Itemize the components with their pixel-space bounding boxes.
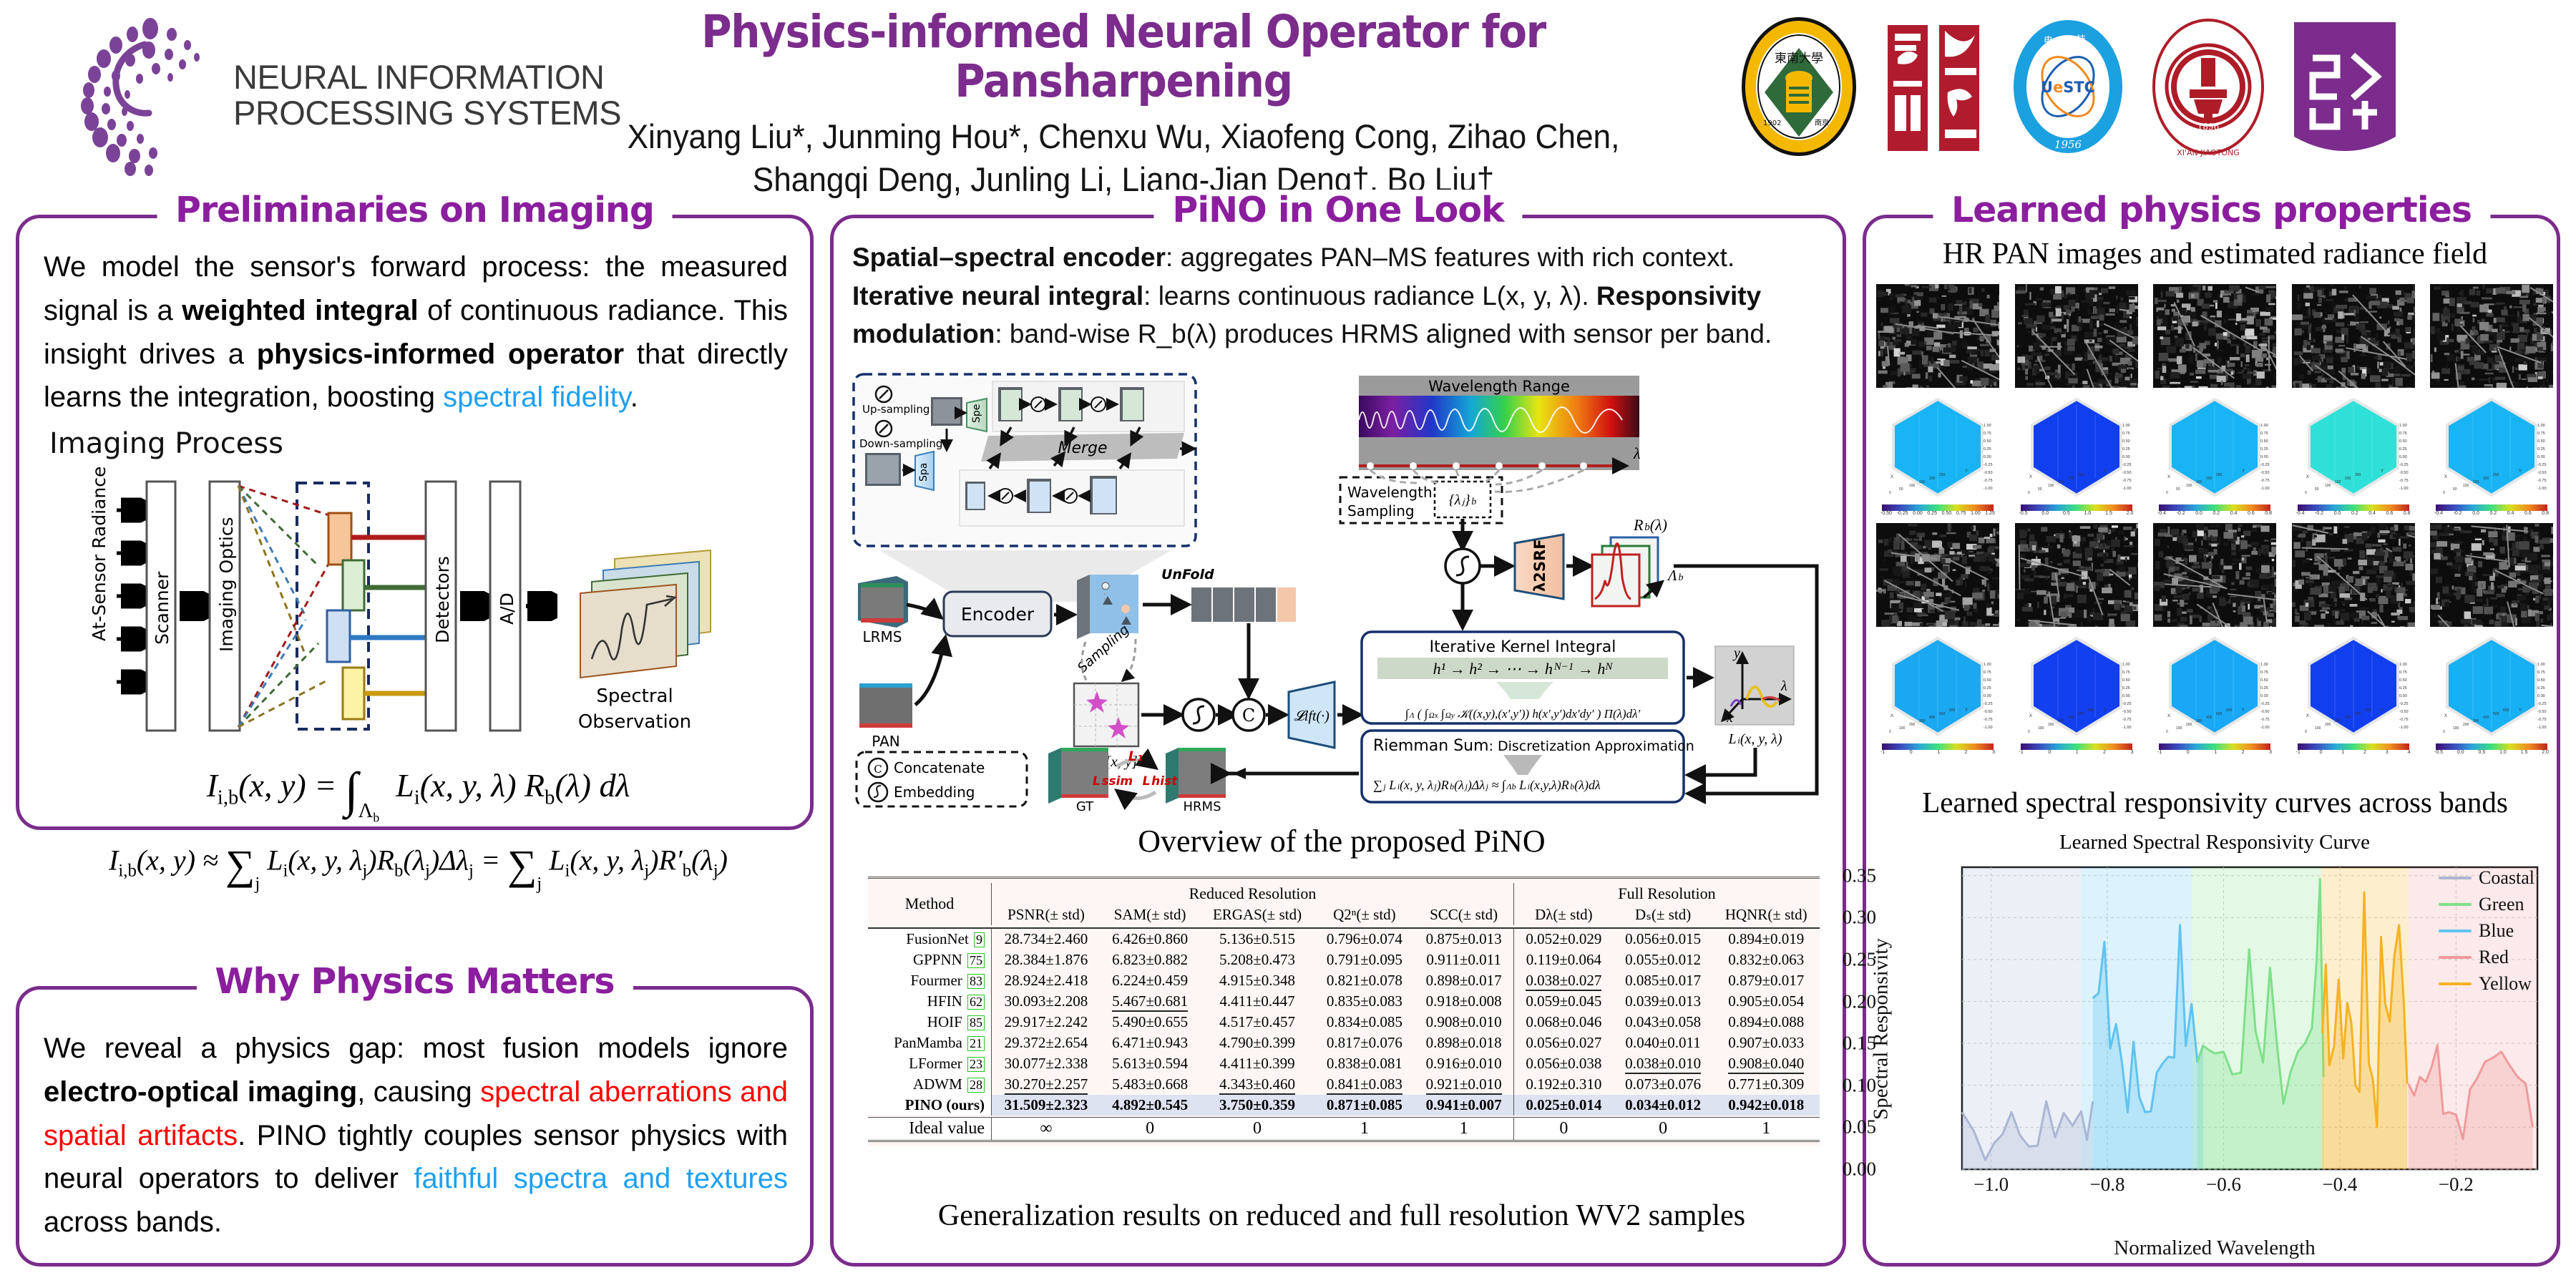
- legend-item: Red: [2439, 947, 2534, 968]
- table-cell: 31.509±2.323: [992, 1095, 1101, 1116]
- colorbar-tick: 0.2: [2212, 511, 2220, 516]
- why-seg-1: electro-optical imaging: [44, 1076, 357, 1108]
- svg-text:-1.00: -1.00: [2537, 487, 2547, 491]
- svg-text:100: 100: [2038, 726, 2044, 731]
- pan-image-row-1: [1876, 284, 2553, 388]
- svg-text:0.00: 0.00: [2260, 694, 2268, 698]
- table-cell-method: FusionNet 9: [868, 928, 992, 950]
- svg-text:50: 50: [2315, 487, 2319, 492]
- svg-text:0: 0: [2166, 730, 2168, 734]
- svg-text:150: 150: [1919, 480, 1926, 484]
- svg-text:600: 600: [2365, 708, 2371, 713]
- svg-text:1.00: 1.00: [2260, 424, 2268, 428]
- colorbar-tick: 0.5: [2478, 750, 2485, 755]
- table-cell: 0.894±0.019: [1712, 928, 1820, 950]
- radiance-hex-cell: 1.000.750.500.250.00-0.25-0.50-0.75-1.00…: [2292, 633, 2415, 755]
- colorbar-tick: 0.75: [1956, 511, 1966, 516]
- label-detectors: Detectors: [432, 556, 453, 643]
- colorbar-tick: 0.00: [1913, 511, 1923, 516]
- table-cell: 0.916±0.010: [1414, 1053, 1513, 1074]
- svg-text:λ: λ: [1633, 444, 1641, 462]
- svg-text:100: 100: [2176, 726, 2182, 731]
- pino-bullet-1-2: Iterative neural integral: learns contin…: [852, 277, 1833, 353]
- label-radiance-field: L i(x, y, λ): [1727, 731, 1782, 747]
- svg-text:-0.25: -0.25: [2122, 702, 2132, 706]
- colorbar-tick: 3: [2386, 750, 2389, 755]
- chart-legend: CoastalGreenBlueRedYellow: [2439, 867, 2534, 1000]
- svg-text:100: 100: [2463, 484, 2469, 488]
- svg-text:0.50: 0.50: [2399, 678, 2407, 683]
- radiance-hex-cell: 1.000.750.500.250.00-0.25-0.50-0.75-1.00…: [2015, 633, 2138, 755]
- svg-text:0.75: 0.75: [2399, 431, 2407, 436]
- table-cell: 0.835±0.083: [1315, 991, 1415, 1012]
- table-row: HFIN 6230.093±2.2085.467±0.6814.411±0.44…: [868, 991, 1820, 1012]
- svg-text:500: 500: [2216, 712, 2223, 716]
- svg-text:-0.50: -0.50: [2399, 710, 2409, 714]
- colorbar-tick: 0: [2048, 750, 2051, 755]
- svg-text:400: 400: [2206, 716, 2212, 720]
- table-col-0: PSNR(± std): [992, 904, 1101, 925]
- svg-text:X: X: [2444, 714, 2447, 718]
- label-loss-hist: L hist: [1143, 774, 1179, 789]
- table-col-5: Dλ(± std): [1513, 904, 1613, 925]
- colorbar-tick: 2: [2242, 750, 2245, 755]
- radiance-colorbar-ticks: -0.50.00.51.01.52.0: [2019, 511, 2134, 516]
- svg-text:500: 500: [2493, 712, 2499, 716]
- panel-why-physics-matters: Why Physics Matters We reveal a physics …: [16, 986, 814, 1267]
- radiance-colorbar: [2021, 743, 2132, 750]
- svg-text:0.50: 0.50: [1984, 439, 1991, 444]
- svg-text:0.00: 0.00: [2260, 455, 2268, 459]
- xian-jiaotong-university-logo: 1896 XI'AN JIAOTONG: [2148, 15, 2268, 158]
- svg-text:0.75: 0.75: [2537, 670, 2545, 675]
- radiance-hex-cell: 1.000.750.500.250.00-0.25-0.50-0.75-1.00…: [2430, 633, 2553, 755]
- legend-item: Blue: [2439, 920, 2534, 942]
- radiance-colorbar: [1882, 743, 1994, 750]
- svg-text:1.00: 1.00: [2260, 663, 2268, 667]
- why-seg-2: , causing: [357, 1076, 480, 1108]
- svg-text:500: 500: [2355, 712, 2361, 716]
- colorbar-tick: 1.5: [2521, 750, 2528, 755]
- author-line-1: Xinyang Liu*, Junming Hou*, Chenxu Wu, X…: [558, 115, 1688, 158]
- svg-text:-0.25: -0.25: [2399, 463, 2409, 467]
- svg-text:0.00: 0.00: [2399, 455, 2407, 459]
- svg-text:100: 100: [2453, 726, 2459, 731]
- table-cell: 0.838±0.081: [1315, 1053, 1415, 1074]
- colorbar-tick: -0.4: [2157, 511, 2166, 516]
- table-cell: 0.059±0.045: [1513, 991, 1613, 1012]
- label-up-sampling: Up-sampling: [862, 403, 930, 416]
- chart-ytick: 0.15: [1843, 1033, 1882, 1055]
- svg-text:1.00: 1.00: [1984, 663, 1991, 667]
- title-block: Physics-informed Neural Operator for Pan…: [522, 7, 1724, 201]
- table-cell-method: PanMamba 21: [868, 1033, 992, 1053]
- svg-text:500: 500: [1939, 712, 1946, 716]
- svg-text:200: 200: [1909, 723, 1916, 727]
- table-cell: 0.791±0.095: [1315, 950, 1415, 970]
- learned-subtitle: HR PAN images and estimated radiance fie…: [1866, 237, 2564, 271]
- svg-text:150: 150: [2058, 480, 2064, 484]
- pan-image-tile: [2153, 284, 2276, 388]
- radiance-hex-row-1: 1.000.750.500.250.00-0.25-0.50-0.75-1.00…: [1876, 394, 2553, 516]
- table-cell: 6.426±0.860: [1101, 928, 1200, 950]
- svg-text:Y: Y: [1965, 469, 1968, 474]
- table-col-7: HQNR(± std): [1712, 904, 1820, 925]
- label-spectral-line2: Observation: [578, 711, 691, 733]
- svg-text:300: 300: [2196, 719, 2202, 723]
- svg-text:0.00: 0.00: [1984, 455, 1991, 459]
- table-cell: 0.056±0.027: [1513, 1033, 1613, 1053]
- svg-text:50: 50: [1899, 487, 1903, 492]
- svg-text:-0.75: -0.75: [2122, 718, 2132, 722]
- svg-text:0.50: 0.50: [2122, 439, 2130, 444]
- label-iterative-kernel-integral: Iterative Kernel Integral: [1430, 638, 1616, 656]
- table-cell: 4.790±0.399: [1199, 1033, 1314, 1053]
- radiance-hex-cell: 1.000.750.500.250.00-0.25-0.50-0.75-1.00…: [2015, 394, 2138, 516]
- table-cell: 4.411±0.399: [1199, 1053, 1314, 1074]
- colorbar-tick: -0.4: [2296, 511, 2305, 516]
- colorbar-tick: 0.2: [2351, 511, 2358, 516]
- table-cell: 0.056±0.015: [1614, 928, 1713, 950]
- radiance-colorbar: [2298, 504, 2409, 511]
- chart-xtick: −0.8: [2090, 1169, 2125, 1196]
- svg-text:0: 0: [2166, 491, 2168, 495]
- radiance-surface-plot: 1.000.750.500.250.00-0.25-0.50-0.75-1.00…: [2292, 633, 2415, 741]
- table-cell: 29.917±2.242: [992, 1012, 1101, 1033]
- chart-ytick: 0.10: [1843, 1074, 1882, 1096]
- colorbar-tick: 0.0: [2041, 511, 2049, 516]
- radiance-surface-plot: 1.000.750.500.250.00-0.25-0.50-0.75-1.00…: [2292, 394, 2415, 502]
- radiance-colorbar: [2159, 743, 2270, 750]
- table-cell: 0.907±0.033: [1712, 1033, 1820, 1053]
- radiance-colorbar-ticks: -0.4-0.20.00.20.40.60.8: [2157, 511, 2272, 516]
- panel-title-learned-physics: Learned physics properties: [1933, 190, 2490, 230]
- legend-swatch: [2439, 877, 2472, 879]
- colorbar-tick: 0.8: [2542, 511, 2549, 516]
- colorbar-tick: 0.8: [2265, 511, 2272, 516]
- panel-title-preliminaries: Preliminaries on Imaging: [157, 190, 673, 230]
- table-cell-ideal: 1: [1414, 1118, 1513, 1141]
- table-cell: 0.921±0.010: [1414, 1074, 1513, 1095]
- svg-text:200: 200: [2068, 477, 2074, 481]
- svg-text:C: C: [1242, 706, 1255, 726]
- table-cell: 5.613±0.594: [1101, 1053, 1200, 1074]
- radiance-image-grid: 1.000.750.500.250.00-0.25-0.50-0.75-1.00…: [1876, 284, 2553, 755]
- svg-text:0.00: 0.00: [2399, 694, 2407, 698]
- svg-text:0: 0: [1889, 730, 1891, 734]
- label-loss-l1: L₁: [1128, 748, 1143, 764]
- svg-text:100: 100: [2325, 484, 2331, 488]
- colorbar-tick: 2: [2103, 750, 2106, 755]
- radiance-colorbar: [2436, 743, 2547, 750]
- svg-text:0.25: 0.25: [2537, 686, 2545, 691]
- table-row: HOIF 8529.917±2.2425.490±0.6554.517±0.45…: [868, 1012, 1820, 1033]
- table-cell-ideal: 0: [1101, 1118, 1200, 1141]
- colorbar-tick: 0.6: [2524, 511, 2532, 516]
- svg-text:Y: Y: [2381, 708, 2384, 713]
- radiance-colorbar: [1882, 504, 1994, 511]
- table-cell: 5.467±0.681: [1101, 991, 1200, 1012]
- svg-text:λ: λ: [1780, 678, 1787, 694]
- svg-text:-0.25: -0.25: [2537, 463, 2547, 467]
- table-cell: 28.384±1.876: [992, 950, 1101, 970]
- imaging-process-diagram: At-Sensor Radiance Scanner Imaging Optic…: [91, 466, 735, 752]
- svg-text:-0.50: -0.50: [1984, 471, 1993, 475]
- table-cell: 0.941±0.007: [1414, 1095, 1513, 1116]
- colorbar-tick: 2.0: [2127, 511, 2134, 516]
- svg-text:1.00: 1.00: [2399, 663, 2407, 667]
- table-cell: 0.192±0.310: [1513, 1074, 1613, 1095]
- svg-text:600: 600: [2503, 708, 2509, 713]
- svg-text:-0.50: -0.50: [2260, 471, 2270, 475]
- svg-text:电: 电: [2044, 36, 2053, 47]
- svg-text:0.50: 0.50: [2122, 678, 2130, 683]
- table-cell-ideal: 0: [1199, 1118, 1314, 1141]
- svg-text:-0.75: -0.75: [2260, 479, 2270, 483]
- table-cell-ideal: 1: [1315, 1118, 1415, 1141]
- svg-text:X: X: [2167, 475, 2170, 479]
- neurips-logo: NEURAL INFORMATION PROCESSING SYSTEMS: [64, 13, 522, 177]
- radiance-colorbar: [2159, 504, 2270, 511]
- table-cell: 0.898±0.017: [1414, 970, 1513, 991]
- table-cell: 0.911±0.011: [1414, 950, 1513, 970]
- svg-text:Y: Y: [2519, 469, 2522, 474]
- table-cell: 6.224±0.459: [1101, 970, 1200, 991]
- svg-text:子: 子: [2026, 76, 2036, 87]
- radiance-hex-cell: 1.000.750.500.250.00-0.25-0.50-0.75-1.00…: [2292, 394, 2415, 516]
- colorbar-tick: 3: [2269, 750, 2272, 755]
- colorbar-tick: 2: [1965, 750, 1968, 755]
- svg-text:X: X: [2306, 475, 2309, 479]
- table-row: PanMamba 2129.372±2.6546.471±0.9434.790±…: [868, 1033, 1820, 1053]
- label-kernel-integral: ∫ Λ ( ∫ Ωx ∫ Ωy 𝒦((x,y),(x′,y′)) h(x′,y′…: [1405, 707, 1641, 721]
- colorbar-tick: 0.25: [1927, 511, 1937, 516]
- svg-text:1896: 1896: [2197, 122, 2220, 132]
- table-cell: 0.834±0.085: [1315, 1012, 1415, 1033]
- table-cell: 29.372±2.654: [992, 1033, 1101, 1053]
- pan-image-row-2: [1876, 523, 2553, 627]
- colorbar-tick: 0: [1910, 750, 1913, 755]
- equation-discrete: Ii,b(x, y) ≈ ∑j Li(x, y, λj)Rb(λj)Δλj = …: [34, 841, 803, 894]
- radiance-surface-plot: 1.000.750.500.250.00-0.25-0.50-0.75-1.00…: [2430, 633, 2553, 741]
- table-cell: 28.924±2.418: [992, 970, 1101, 991]
- table-cell: 0.918±0.008: [1414, 991, 1513, 1012]
- table-cell-ideal: 0: [1614, 1118, 1713, 1141]
- colorbar-tick: 0.2: [2489, 511, 2497, 516]
- colorbar-tick: 1.0: [2084, 511, 2092, 516]
- colorbar-tick: 0.0: [2334, 511, 2341, 516]
- colorbar-tick: 0.4: [2230, 511, 2238, 516]
- label-wavelength-range: Wavelength Range: [1428, 378, 1570, 395]
- table-row: Fourmer 8328.924±2.4186.224±0.4594.915±0…: [868, 970, 1820, 991]
- svg-text:250: 250: [2493, 473, 2499, 477]
- table-cell: 0.068±0.046: [1513, 1012, 1613, 1033]
- svg-text:-1.00: -1.00: [1984, 726, 1993, 730]
- svg-text:-0.25: -0.25: [2537, 702, 2547, 706]
- svg-text:-1.00: -1.00: [2537, 726, 2547, 730]
- svg-text:0.00: 0.00: [1984, 694, 1991, 698]
- svg-text:0.25: 0.25: [1984, 686, 1991, 691]
- table-group-full: Full Resolution: [1513, 883, 1820, 904]
- table-cell: 0.875±0.013: [1414, 928, 1513, 950]
- legend-label: Blue: [2479, 920, 2514, 942]
- label-spe: Spe: [971, 404, 982, 423]
- svg-text:500: 500: [2078, 712, 2084, 716]
- table-header-method: Method: [868, 883, 992, 925]
- svg-text:0.50: 0.50: [2260, 439, 2268, 444]
- colorbar-tick: 1.00: [1971, 511, 1981, 516]
- preliminaries-paragraph: We model the sensor's forward process: t…: [44, 245, 788, 419]
- svg-text:0.25: 0.25: [2122, 686, 2130, 691]
- svg-text:大: 大: [2099, 76, 2109, 87]
- radiance-colorbar: [2298, 743, 2409, 750]
- legend-label: Yellow: [2479, 973, 2532, 995]
- legend-label: Coastal: [2479, 867, 2534, 889]
- legend-item: Coastal: [2439, 867, 2534, 889]
- svg-text:XI'AN JIAOTONG: XI'AN JIAOTONG: [2177, 148, 2240, 157]
- svg-text:400: 400: [1929, 716, 1936, 720]
- table-row: LFormer 2330.077±2.3385.613±0.5944.411±0…: [868, 1053, 1820, 1074]
- table-cell: 6.823±0.882: [1101, 950, 1200, 970]
- svg-text:0.50: 0.50: [2260, 678, 2268, 683]
- pan-image-tile: [2153, 523, 2276, 627]
- colorbar-tick: 2: [2363, 750, 2366, 755]
- svg-text:400: 400: [2068, 716, 2074, 720]
- svg-text:-1.00: -1.00: [2399, 726, 2409, 730]
- table-group-reduced: Reduced Resolution: [992, 883, 1514, 904]
- table-cell-ideal: 1: [1712, 1118, 1820, 1141]
- svg-text:0.75: 0.75: [2260, 431, 2268, 436]
- label-spa: Spa: [918, 463, 930, 482]
- colorbar-tick: -0.2: [2177, 511, 2185, 516]
- label-lift: 𝓛ift(·): [1294, 708, 1330, 724]
- table-cell-method: LFormer 23: [868, 1053, 992, 1074]
- svg-text:Y: Y: [2104, 708, 2107, 713]
- svg-text:200: 200: [2463, 723, 2469, 727]
- colorbar-tick: -0.5: [2019, 511, 2028, 516]
- table-cell: 30.077±2.338: [992, 1053, 1101, 1074]
- radiance-surface-plot: 1.000.750.500.250.00-0.25-0.50-0.75-1.00…: [2015, 394, 2138, 502]
- table-cell: 4.517±0.457: [1199, 1012, 1314, 1033]
- results-table: MethodReduced ResolutionFull ResolutionP…: [868, 877, 1820, 1146]
- label-down-sampling: Down-sampling: [859, 437, 942, 450]
- table-cell: 3.750±0.359: [1199, 1095, 1314, 1116]
- svg-text:C: C: [874, 763, 882, 776]
- svg-text:-0.75: -0.75: [1984, 718, 1993, 722]
- svg-text:-0.75: -0.75: [1984, 479, 1993, 483]
- chart-xlabel: Normalized Wavelength: [1882, 1236, 2547, 1260]
- svg-text:200: 200: [2345, 477, 2351, 481]
- table-cell: 0.119±0.064: [1513, 950, 1613, 970]
- pan-image-tile: [1876, 523, 1999, 627]
- label-unfold: UnFold: [1161, 567, 1214, 582]
- svg-text:150: 150: [2196, 480, 2202, 484]
- svg-text:0.75: 0.75: [2399, 670, 2407, 675]
- legend-swatch: [2439, 956, 2472, 959]
- svg-text:150: 150: [2335, 480, 2341, 484]
- table-cell: 4.892±0.545: [1101, 1095, 1200, 1116]
- label-scanner: Scanner: [152, 571, 172, 645]
- colorbar-tick: 1.5: [2105, 511, 2112, 516]
- poster-header: NEURAL INFORMATION PROCESSING SYSTEMS Ph…: [0, 0, 2576, 195]
- chart-ytick: 0.30: [1843, 907, 1882, 929]
- svg-text:0.25: 0.25: [2260, 686, 2268, 691]
- svg-text:0: 0: [2028, 730, 2030, 734]
- radiance-surface-plot: 1.000.750.500.250.00-0.25-0.50-0.75-1.00…: [1876, 633, 1999, 741]
- radiance-colorbar-ticks: -0.50-0.250.000.250.500.751.001.25: [1880, 511, 1995, 516]
- table-cell: 0.052±0.029: [1513, 928, 1613, 950]
- imaging-process-caption: Imaging Process: [49, 427, 283, 460]
- svg-text:-0.50: -0.50: [2537, 471, 2547, 475]
- svg-text:1.00: 1.00: [2122, 424, 2130, 428]
- svg-text:-1.00: -1.00: [1984, 487, 1993, 491]
- svg-text:600: 600: [2088, 708, 2094, 713]
- why-physics-paragraph: We reveal a physics gap: most fusion mod…: [44, 1027, 788, 1244]
- label-lrms: LRMS: [863, 628, 902, 645]
- table-cell-method: HFIN 62: [868, 991, 992, 1012]
- radiance-colorbar-ticks: -0.4-0.20.00.20.40.60.8: [2296, 511, 2411, 516]
- svg-text:-1.00: -1.00: [2260, 487, 2270, 491]
- colorbar-tick: 4: [2408, 750, 2411, 755]
- southeast-university-logo: 東南大學 1902 南京: [1739, 15, 1859, 158]
- label-hrms: HRMS: [1184, 799, 1221, 812]
- page-title: Physics-informed Neural Operator for Pan…: [570, 7, 1677, 107]
- radiance-colorbar-ticks: -0.50.00.51.01.52.0: [2434, 750, 2549, 755]
- svg-text:0.75: 0.75: [2122, 670, 2130, 675]
- svg-text:0.50: 0.50: [2537, 678, 2545, 683]
- table-cell: 0.905±0.054: [1712, 991, 1820, 1012]
- band-caption: Learned spectral responsivity curves acr…: [1866, 785, 2564, 819]
- radiance-hex-cell: 1.000.750.500.250.00-0.25-0.50-0.75-1.00…: [1876, 394, 1999, 516]
- panel-title-why-physics: Why Physics Matters: [196, 961, 633, 1002]
- prelim-seg-6: .: [630, 381, 638, 413]
- table-col-6: Dₛ(± std): [1614, 904, 1713, 925]
- svg-text:-0.75: -0.75: [2122, 479, 2132, 483]
- table-cell: 0.034±0.012: [1614, 1095, 1713, 1116]
- svg-text:0: 0: [2305, 491, 2307, 495]
- table-col-1: SAM(± std): [1101, 904, 1200, 925]
- svg-text:東南大學: 東南大學: [1775, 52, 1823, 66]
- table-cell: 0.898±0.018: [1414, 1033, 1513, 1053]
- svg-text:0.25: 0.25: [2399, 686, 2407, 691]
- colorbar-tick: 0.5: [2063, 511, 2070, 516]
- svg-text:300: 300: [1919, 719, 1926, 723]
- colorbar-tick: 1.0: [2499, 750, 2507, 755]
- svg-text:50: 50: [2176, 487, 2180, 492]
- colorbar-tick: 1: [1937, 750, 1940, 755]
- svg-text:-0.25: -0.25: [2260, 463, 2270, 467]
- svg-text:200: 200: [2206, 477, 2212, 481]
- spectral-responsivity-chart: Learned Spectral Responsivity Curve Spec…: [1882, 831, 2547, 1239]
- table-cell: 0.073±0.076: [1614, 1074, 1713, 1095]
- svg-text:-0.25: -0.25: [2122, 463, 2132, 467]
- label-l2srf: λ2SRF: [1531, 539, 1548, 592]
- svg-text:Y: Y: [2381, 469, 2384, 474]
- svg-text:200: 200: [2483, 477, 2489, 481]
- pino-architecture-diagram: Up-sampling Down-sampling Spe Spa: [847, 369, 1838, 812]
- table-cell: 0.871±0.085: [1315, 1095, 1415, 1116]
- svg-text:-0.25: -0.25: [1984, 702, 1993, 706]
- table-col-2: ERGAS(± std): [1199, 904, 1314, 925]
- svg-text:1.00: 1.00: [1984, 424, 1991, 428]
- table-cell: 4.411±0.447: [1199, 991, 1314, 1012]
- pan-image-tile: [1876, 284, 1999, 388]
- table-cell: 0.025±0.014: [1513, 1095, 1613, 1116]
- colorbar-tick: 0.50: [1942, 511, 1952, 516]
- svg-text:UeSTC: UeSTC: [2041, 79, 2095, 96]
- colorbar-tick: 0.0: [2195, 511, 2202, 516]
- table-row: FusionNet 928.734±2.4606.426±0.8605.136±…: [868, 928, 1820, 950]
